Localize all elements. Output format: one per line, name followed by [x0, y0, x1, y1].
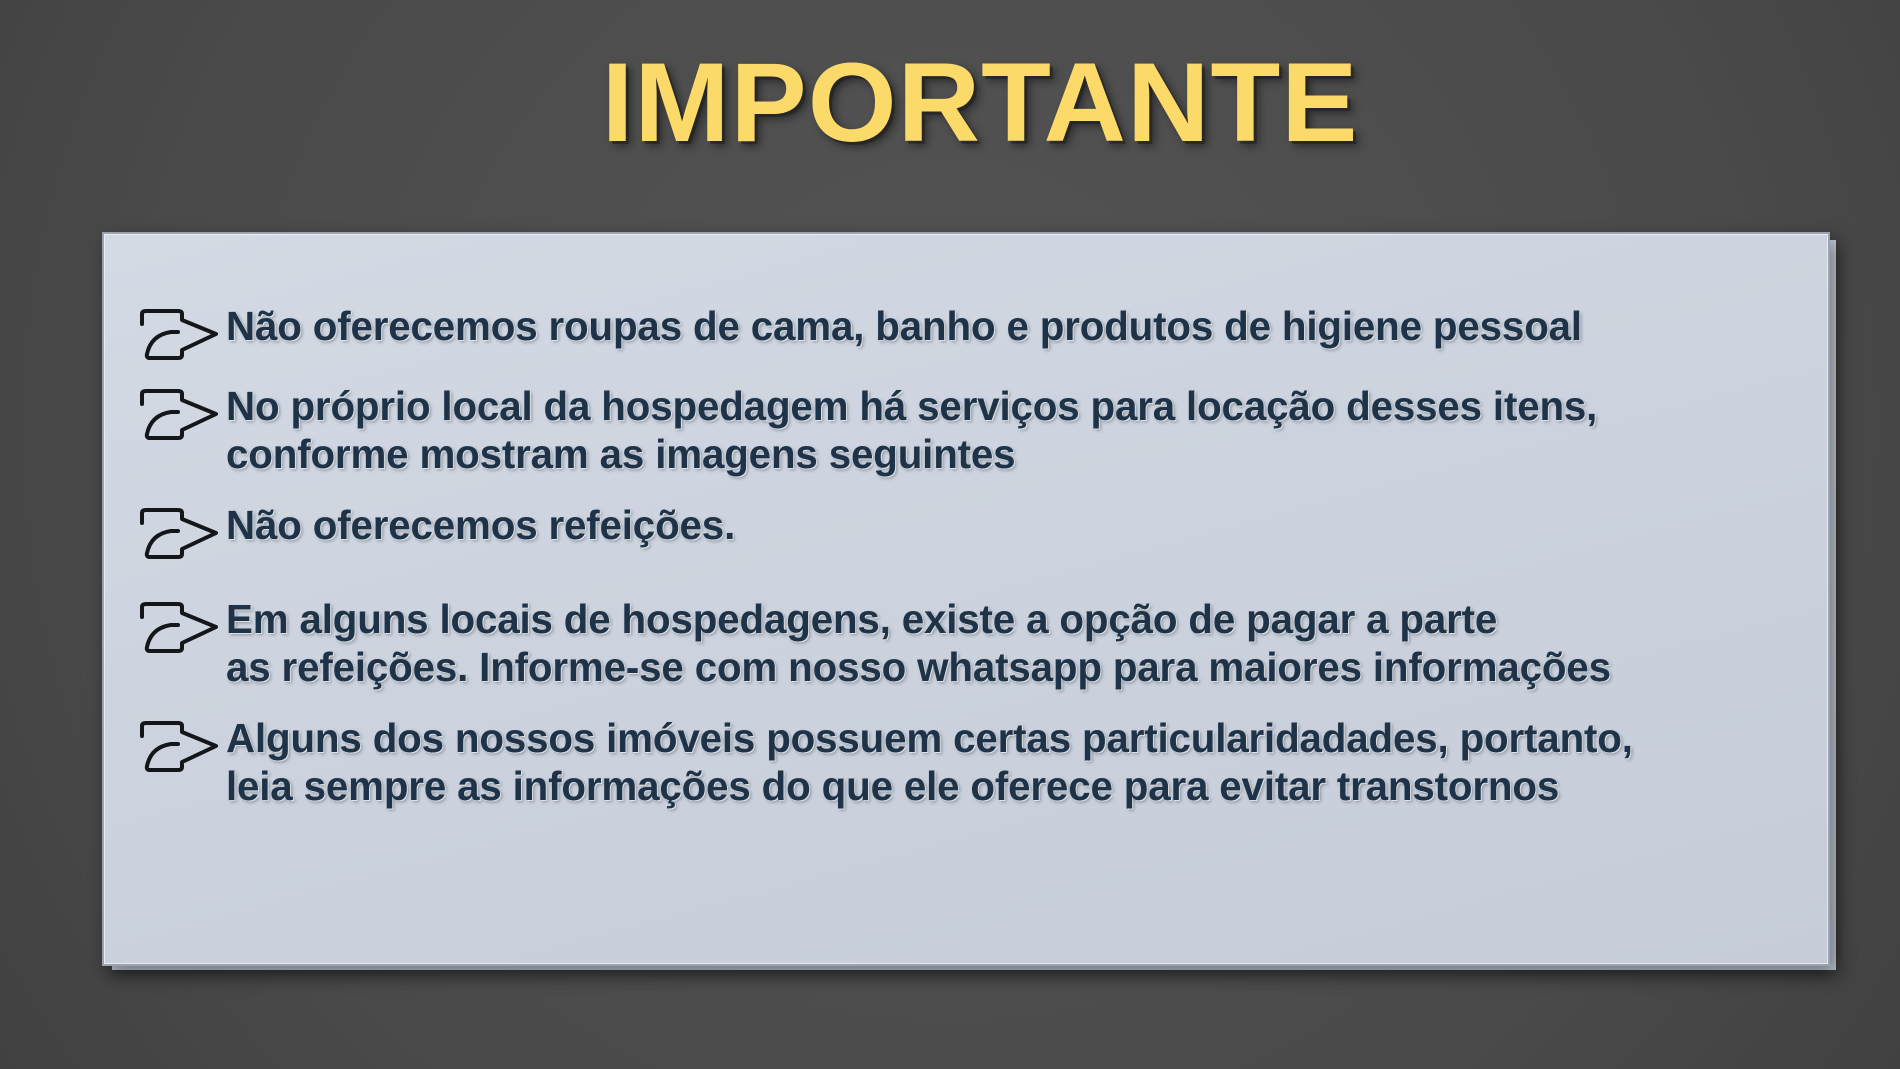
bullet-item-label: Não oferecemos refeições. [226, 501, 735, 549]
right-arrow-outline-icon [138, 601, 220, 653]
slide-canvas: IMPORTANTE Não oferecemos roupas de cama… [0, 0, 1900, 1069]
slide-title-block: IMPORTANTE [0, 44, 1900, 162]
bullet-item-label: No próprio local da hospedagem há serviç… [226, 382, 1597, 479]
page-title: IMPORTANTE [602, 44, 1359, 162]
bullet-item-label: Não oferecemos roupas de cama, banho e p… [226, 302, 1582, 350]
content-panel: Não oferecemos roupas de cama, banho e p… [102, 232, 1830, 966]
right-arrow-outline-icon [138, 388, 220, 440]
bullet-item-label: Em alguns locais de hospedagens, existe … [226, 595, 1611, 692]
right-arrow-outline-icon [138, 507, 220, 559]
bullet-item-no-meals: Não oferecemos refeições. [132, 501, 1794, 559]
right-arrow-outline-icon [138, 720, 220, 772]
right-arrow-outline-icon [138, 308, 220, 360]
bullet-item-read-property-details: Alguns dos nossos imóveis possuem certas… [132, 714, 1794, 811]
bullet-item-paid-meals-option: Em alguns locais de hospedagens, existe … [132, 595, 1794, 692]
bullet-item-rental-on-site: No próprio local da hospedagem há serviç… [132, 382, 1794, 479]
bullet-item-label: Alguns dos nossos imóveis possuem certas… [226, 714, 1633, 811]
bullet-item-no-linens: Não oferecemos roupas de cama, banho e p… [132, 302, 1794, 360]
content-panel-inner: Não oferecemos roupas de cama, banho e p… [104, 234, 1828, 964]
